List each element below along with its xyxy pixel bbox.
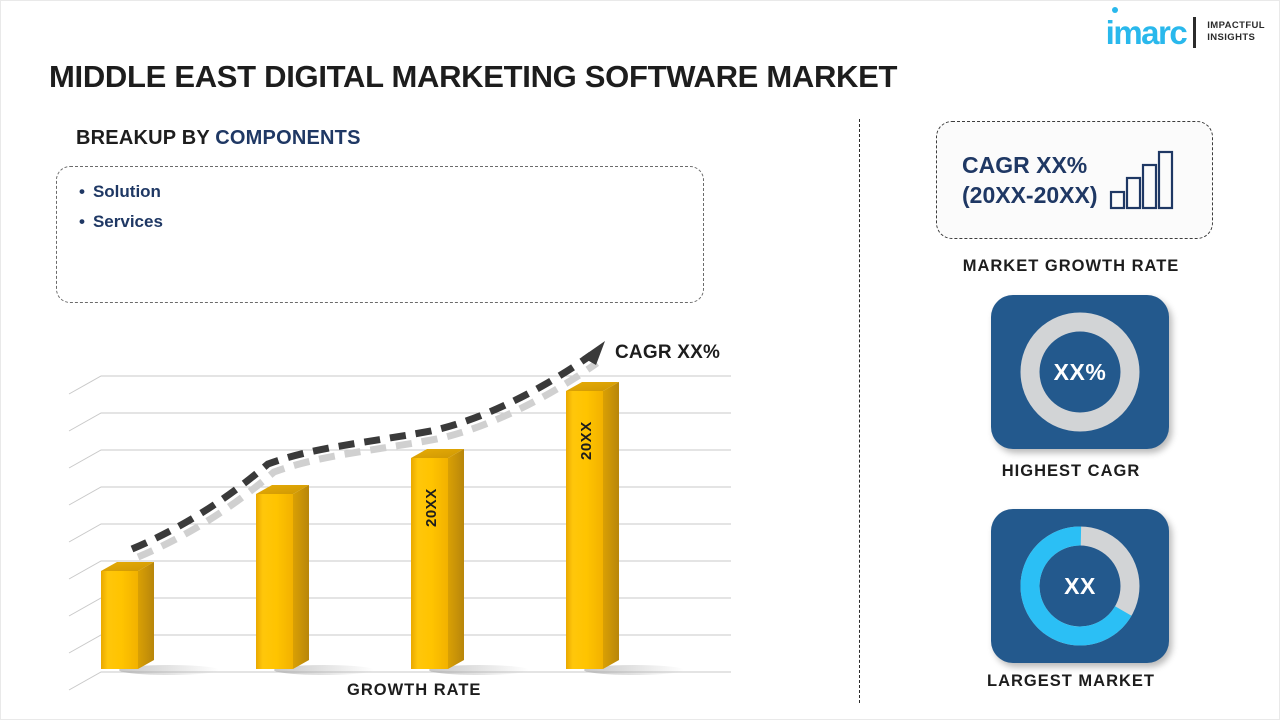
trend-arrow	[132, 341, 605, 557]
breakup-heading: BREAKUP BY COMPONENTS	[76, 127, 361, 150]
growth-rate-chart: 20XX 20XX	[49, 331, 809, 721]
market-growth-rate-box: CAGR XX% (20XX-20XX)	[936, 121, 1213, 239]
logo-tagline-line1: IMPACTFUL	[1207, 20, 1265, 32]
component-label: Solution	[93, 182, 161, 201]
components-box: Solution Services	[56, 166, 704, 303]
components-list: Solution Services	[79, 177, 163, 237]
breakup-heading-prefix: BREAKUP BY	[76, 127, 215, 149]
cagr-line2: (20XX-20XX)	[962, 180, 1098, 210]
infographic-page: imarc IMPACTFUL INSIGHTS MIDDLE EAST DIG…	[0, 0, 1280, 720]
cagr-arrow-label: CAGR XX%	[615, 342, 720, 364]
imarc-logo: imarc IMPACTFUL INSIGHTS	[1106, 11, 1265, 53]
caption-market-growth-rate: MARKET GROWTH RATE	[861, 257, 1280, 276]
chart-x-axis-label: GROWTH RATE	[347, 681, 481, 700]
page-title: MIDDLE EAST DIGITAL MARKETING SOFTWARE M…	[49, 59, 897, 95]
bar-chart-icon	[1108, 149, 1178, 211]
cagr-text: CAGR XX% (20XX-20XX)	[962, 150, 1098, 210]
list-item: Services	[79, 207, 163, 237]
bar-label-3: 20XX	[423, 490, 440, 527]
list-item: Solution	[79, 177, 163, 207]
logo-wordmark-text: imarc	[1106, 14, 1187, 51]
cagr-line1: CAGR XX%	[962, 150, 1098, 180]
component-label: Services	[93, 212, 163, 231]
donut-value-largest-market: XX	[991, 509, 1169, 663]
bar-1	[101, 562, 154, 669]
bar-label-4: 20XX	[578, 423, 595, 460]
tile-highest-cagr: XX%	[991, 295, 1169, 449]
bar-2	[256, 485, 309, 669]
tile-largest-market: XX	[991, 509, 1169, 663]
logo-divider	[1193, 17, 1196, 48]
logo-dot-icon	[1112, 7, 1118, 13]
donut-value-highest-cagr: XX%	[991, 295, 1169, 449]
logo-tagline: IMPACTFUL INSIGHTS	[1207, 20, 1265, 44]
breakup-heading-accent: COMPONENTS	[215, 127, 360, 149]
caption-highest-cagr: HIGHEST CAGR	[861, 462, 1280, 481]
panel-divider	[859, 119, 860, 703]
logo-wordmark: imarc	[1106, 16, 1187, 49]
bar-3	[411, 449, 464, 669]
caption-largest-market: LARGEST MARKET	[861, 672, 1280, 691]
logo-tagline-line2: INSIGHTS	[1207, 32, 1265, 44]
